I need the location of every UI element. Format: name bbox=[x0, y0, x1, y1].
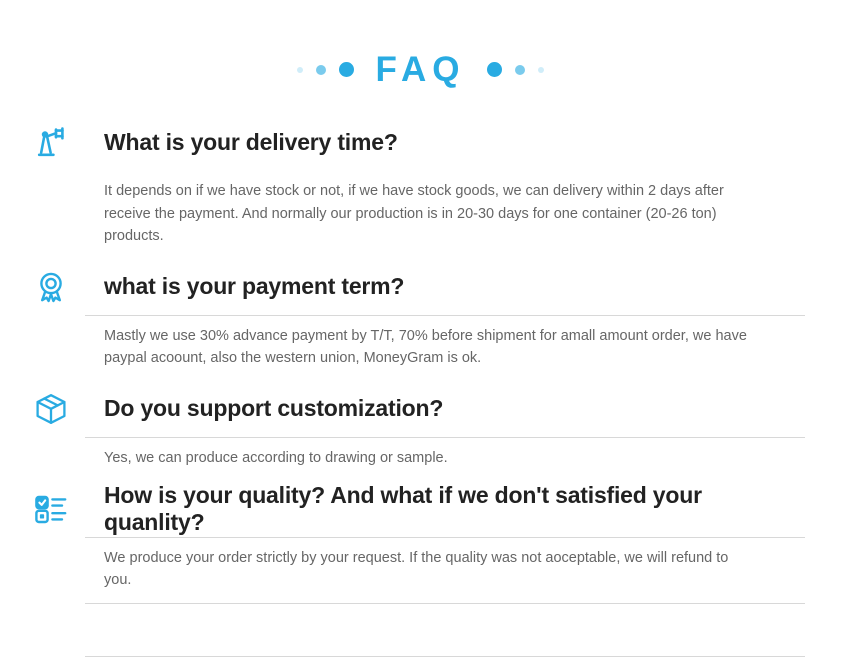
decorative-dots-left bbox=[297, 62, 354, 77]
faq-question-row[interactable]: what is your payment term? bbox=[85, 259, 805, 315]
dot-icon bbox=[487, 62, 502, 77]
faq-answer-text: Mastly we use 30% advance payment by T/T… bbox=[85, 316, 774, 381]
faq-list: What is your delivery time? It depends o… bbox=[0, 115, 841, 657]
faq-question-row[interactable]: Do you support customization? bbox=[85, 381, 805, 437]
faq-item: How is your quality? And what if we don'… bbox=[85, 481, 805, 604]
faq-item: What is your delivery time? It depends o… bbox=[85, 115, 805, 259]
dot-icon bbox=[339, 62, 354, 77]
faq-item: Do you support customization? Yes, we ca… bbox=[85, 381, 805, 481]
award-ribbon-icon bbox=[33, 269, 85, 305]
checklist-icon bbox=[33, 491, 85, 527]
faq-question-text: How is your quality? And what if we don'… bbox=[85, 482, 805, 536]
empty-row-spacer bbox=[85, 604, 805, 656]
faq-answer-text: Yes, we can produce according to drawing… bbox=[85, 438, 774, 481]
dot-icon bbox=[316, 65, 326, 75]
faq-item: what is your payment term? Mastly we use… bbox=[85, 259, 805, 381]
faq-question-row[interactable]: How is your quality? And what if we don'… bbox=[85, 481, 805, 537]
page-title: FAQ bbox=[376, 52, 466, 87]
dot-icon bbox=[515, 65, 525, 75]
dot-icon bbox=[297, 67, 303, 73]
faq-question-text: What is your delivery time? bbox=[85, 129, 398, 156]
robotic-arm-icon bbox=[33, 125, 85, 161]
faq-question-row[interactable]: What is your delivery time? bbox=[85, 115, 805, 171]
faq-question-text: what is your payment term? bbox=[85, 273, 404, 300]
decorative-dots-right bbox=[487, 62, 544, 77]
dot-icon bbox=[538, 67, 544, 73]
package-box-icon bbox=[33, 391, 85, 427]
faq-item-empty bbox=[85, 604, 805, 657]
faq-answer-text: We produce your order strictly by your r… bbox=[85, 538, 774, 603]
faq-header: FAQ bbox=[0, 0, 841, 87]
faq-answer-text: It depends on if we have stock or not, i… bbox=[85, 171, 774, 259]
faq-question-text: Do you support customization? bbox=[85, 395, 443, 422]
